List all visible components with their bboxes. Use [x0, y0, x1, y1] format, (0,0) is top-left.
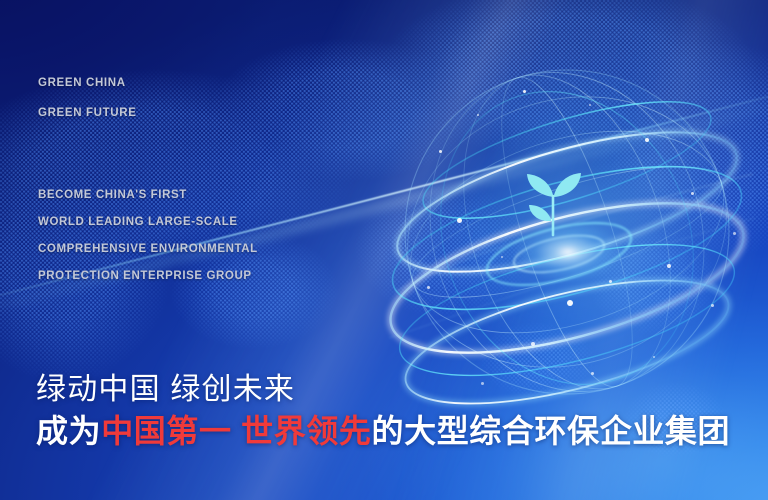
- headline-chinese-line-1: 绿动中国 绿创未来: [36, 370, 730, 410]
- mission-line-4: PROTECTION ENTERPRISE GROUP: [38, 263, 258, 290]
- mission-line-3: COMPREHENSIVE ENVIRONMENTAL: [38, 236, 258, 263]
- mission-line-2: WORLD LEADING LARGE-SCALE: [38, 209, 258, 236]
- tagline-english-top: GREEN CHINA GREEN FUTURE: [38, 68, 137, 128]
- hero-banner: GREEN CHINA GREEN FUTURE BECOME CHINA'S …: [0, 0, 768, 500]
- mission-line-1: BECOME CHINA'S FIRST: [38, 182, 258, 209]
- headline-accent: 中国第一 世界领先: [101, 413, 371, 449]
- headline-chinese: 绿动中国 绿创未来 成为中国第一 世界领先的大型综合环保企业集团: [36, 370, 730, 452]
- headline-suffix: 的大型综合环保企业集团: [372, 413, 731, 449]
- headline-chinese-line-2: 成为中国第一 世界领先的大型综合环保企业集团: [36, 410, 730, 452]
- mission-statement-english: BECOME CHINA'S FIRST WORLD LEADING LARGE…: [38, 182, 258, 290]
- tagline-line-2: GREEN FUTURE: [38, 98, 137, 128]
- tagline-line-1: GREEN CHINA: [38, 68, 137, 98]
- headline-prefix: 成为: [36, 413, 101, 449]
